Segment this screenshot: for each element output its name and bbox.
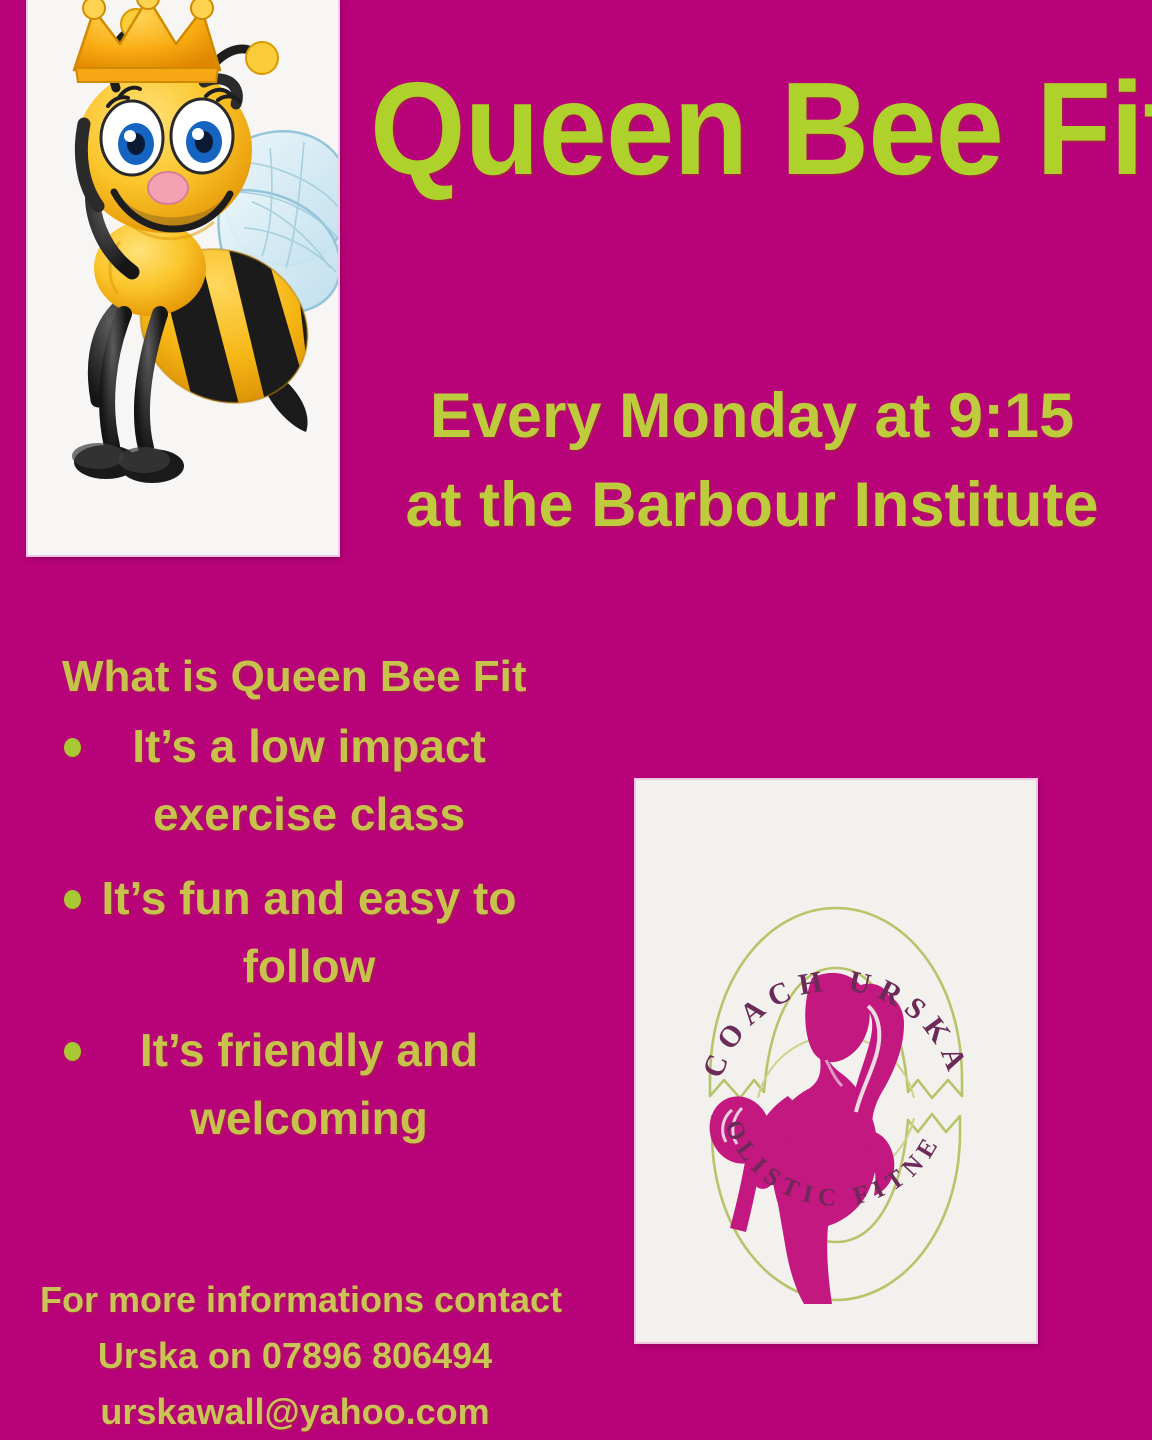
list-item: It’s friendly and welcoming (48, 1016, 518, 1152)
bullet-dot-icon (64, 738, 81, 757)
list-item-label: It’s friendly and welcoming (48, 1016, 518, 1152)
contact-block: For more informations contact Urska on 0… (40, 1272, 550, 1440)
list-item: It’s fun and easy to follow (48, 864, 518, 1000)
poster-canvas: Queen Bee Fit Every Monday at 9:15 at th… (0, 0, 1152, 1440)
list-item-label: It’s a low impact exercise class (48, 712, 518, 848)
contact-phone: Urska on 07896 806494 (40, 1328, 550, 1384)
coach-urska-logo-icon: COACH URSKA HOLISTIC FITNESS (636, 780, 1036, 1342)
contact-prompt: For more informations contact (40, 1272, 550, 1328)
schedule-line-venue: at the Barbour Institute (372, 461, 1132, 550)
schedule-block: Every Monday at 9:15 at the Barbour Inst… (372, 372, 1132, 551)
bullet-dot-icon (64, 890, 81, 909)
queen-bee-icon (28, 0, 338, 555)
bee-image-card (28, 0, 338, 555)
schedule-line-day-time: Every Monday at 9:15 (372, 372, 1132, 461)
coach-logo-card: COACH URSKA HOLISTIC FITNESS (636, 780, 1036, 1342)
contact-email[interactable]: urskawall@yahoo.com (40, 1384, 550, 1440)
page-title: Queen Bee Fit (370, 62, 1097, 197)
list-item: It’s a low impact exercise class (48, 712, 518, 848)
list-item-label: It’s fun and easy to follow (48, 864, 518, 1000)
about-heading: What is Queen Bee Fit (62, 652, 527, 702)
about-bullet-list: It’s a low impact exercise class It’s fu… (48, 712, 518, 1168)
